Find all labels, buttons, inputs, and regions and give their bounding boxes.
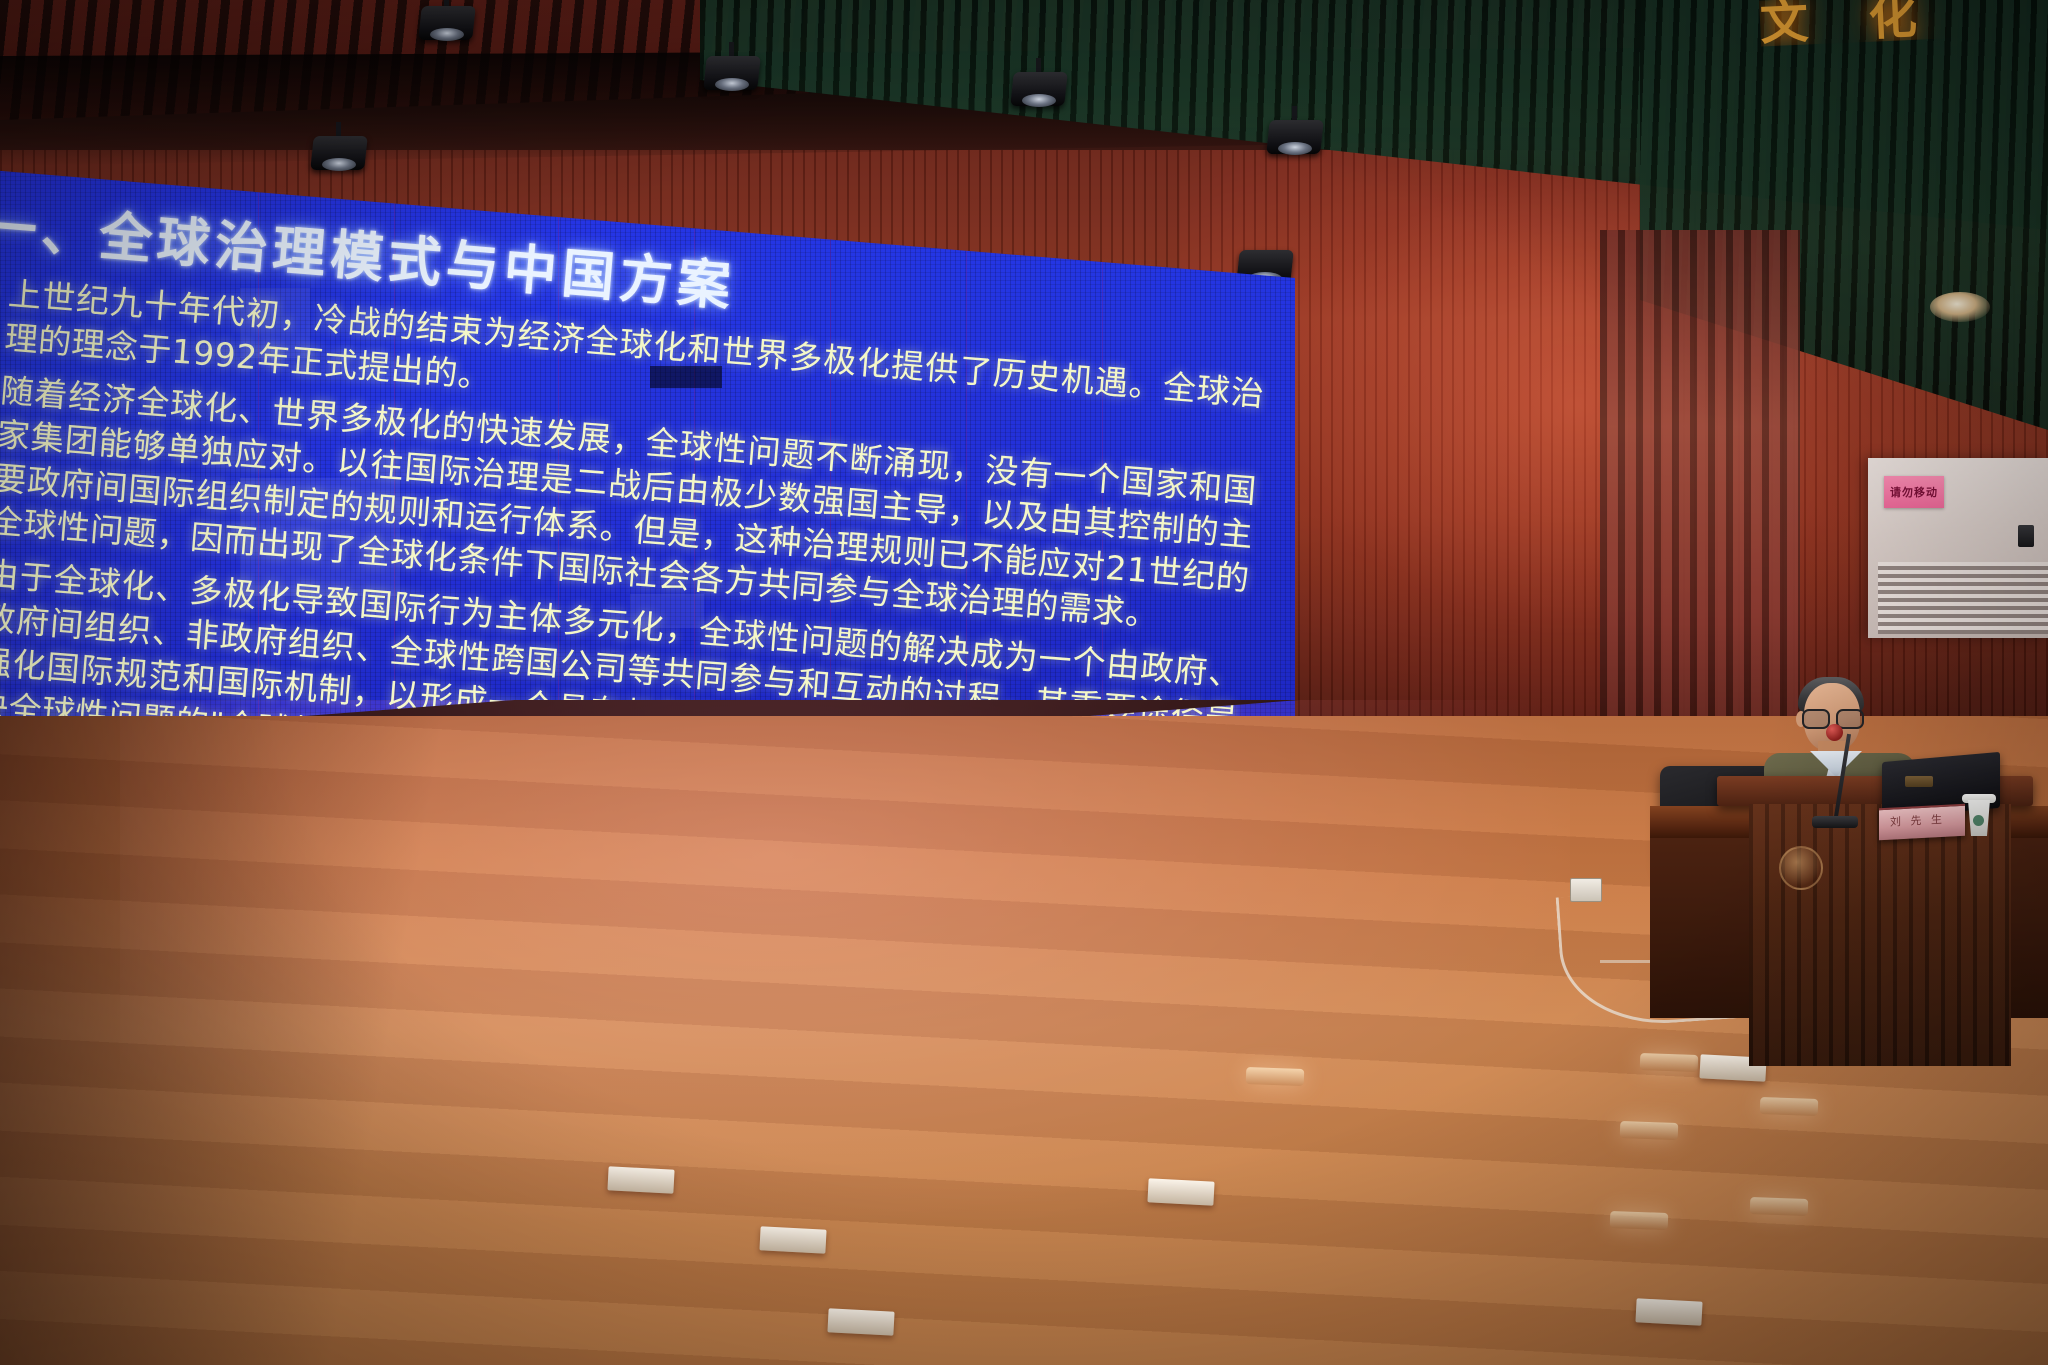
floor-light-fixture <box>1640 1053 1699 1072</box>
air-conditioner-control-panel[interactable] <box>2018 525 2034 547</box>
floor-shadow <box>0 716 520 1365</box>
podium-emblem <box>1779 846 1823 890</box>
podium-body <box>1749 804 2011 1066</box>
microphone-head[interactable] <box>1826 724 1843 741</box>
wall-lamp-glow <box>1930 292 1990 322</box>
light-lens <box>430 28 464 41</box>
floor-light-fixture <box>1750 1197 1809 1216</box>
floor-light-fixture <box>1620 1121 1679 1140</box>
light-lens <box>1278 142 1312 155</box>
floor-light-fixture <box>1246 1067 1305 1086</box>
light-lens <box>1022 94 1056 107</box>
track-light-5 <box>1268 120 1322 154</box>
do-not-move-sign-text: 请勿移动 <box>1890 484 1938 500</box>
floor-marker-card <box>1147 1178 1214 1205</box>
air-conditioner-grille <box>1878 562 2048 634</box>
glasses-lens-left <box>1802 709 1830 729</box>
laptop-badge <box>1905 776 1933 787</box>
do-not-move-sign: 请勿移动 <box>1884 476 1944 508</box>
floor-marker-card <box>1635 1298 1702 1325</box>
track-light-3 <box>1012 72 1066 106</box>
cup-logo-icon <box>1973 815 1984 826</box>
auditorium-scene: 文 化 <box>0 0 2048 1365</box>
track-light-4 <box>312 136 366 170</box>
floor-light-fixture <box>1610 1211 1669 1230</box>
floor-marker-card <box>827 1308 894 1335</box>
floor-light-fixture <box>1760 1097 1819 1116</box>
floor-marker-card <box>759 1226 826 1253</box>
track-light-2 <box>705 56 759 90</box>
floor-marker-card <box>607 1166 674 1193</box>
microphone-base <box>1812 816 1858 828</box>
light-lens <box>715 78 749 91</box>
light-lens <box>322 158 356 171</box>
speaker-glasses <box>1802 709 1864 725</box>
track-light-1 <box>420 6 474 40</box>
